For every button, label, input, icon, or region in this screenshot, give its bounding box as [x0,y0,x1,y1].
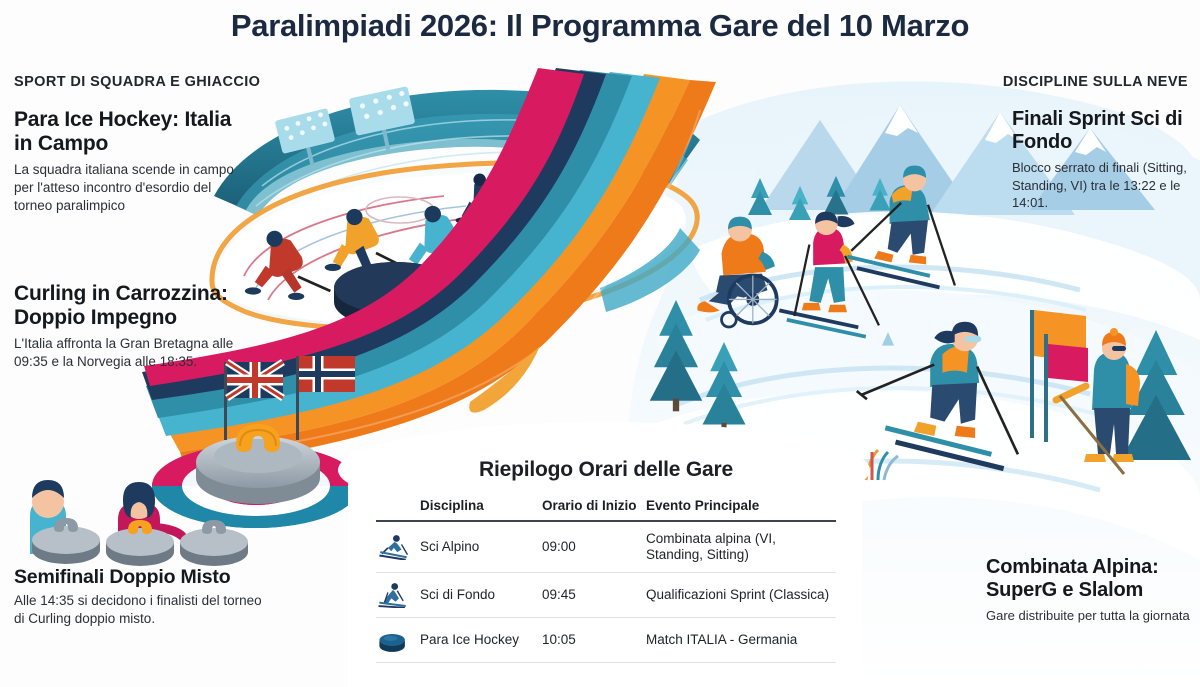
row-orario: 09:00 [542,521,646,572]
block-combinata-alpina: Combinata Alpina: SuperG e Slalom Gare d… [986,556,1200,625]
block-heading: Curling in Carrozzina: Doppio Impegno [14,282,246,329]
block-body: Alle 14:35 si decidono i finalisti del t… [14,592,272,628]
block-body: La squadra italiana scende in campo per … [14,161,242,214]
block-semifinali-doppio-misto: Semifinali Doppio Misto Alle 14:35 si de… [14,566,272,628]
schedule-table-head: Disciplina Orario di Inizio Evento Princ… [376,498,836,521]
row-orario: 10:05 [542,617,646,662]
column-header-orario: Orario di Inizio [542,498,646,521]
table-row: Sci Alpino 09:00 Combinata alpina (VI, S… [376,521,836,572]
schedule-card: Riepilogo Orari delle Gare Disciplina Or… [366,448,846,687]
row-orario: 09:45 [542,572,646,617]
block-heading: Combinata Alpina: SuperG e Slalom [986,556,1200,601]
kicker-right: DISCIPLINE SULLA NEVE [1003,74,1188,90]
row-icon-cell [376,572,420,617]
block-curling-carrozzina: Curling in Carrozzina: Doppio Impegno L'… [14,282,246,371]
row-disciplina: Para Ice Hockey [420,617,542,662]
page-title: Paralimpiadi 2026: Il Programma Gare del… [0,8,1200,44]
table-row: Para Ice Hockey 10:05 Match ITALIA - Ger… [376,617,836,662]
row-evento: Combinata alpina (VI, Standing, Sitting) [646,521,836,572]
block-para-ice-hockey: Para Ice Hockey: Italia in Campo La squa… [14,108,242,215]
row-disciplina: Sci Alpino [420,521,542,572]
row-disciplina: Sci di Fondo [420,572,542,617]
block-heading: Para Ice Hockey: Italia in Campo [14,108,242,155]
block-body: Blocco serrato di finali (Sitting, Stand… [1012,159,1200,211]
row-evento: Match ITALIA - Germania [646,617,836,662]
row-icon-cell [376,521,420,572]
row-evento: Qualificazioni Sprint (Classica) [646,572,836,617]
infographic-root: Paralimpiadi 2026: Il Programma Gare del… [0,0,1200,687]
hockey-puck-icon [376,627,410,653]
table-row: Sci di Fondo 09:45 Qualificazioni Sprint… [376,572,836,617]
block-heading: Semifinali Doppio Misto [14,566,272,588]
block-body: Gare distribuite per tutta la giornata [986,607,1200,624]
cross-country-skier-icon [376,582,410,608]
column-header-evento: Evento Principale [646,498,836,521]
schedule-card-title: Riepilogo Orari delle Gare [366,458,846,482]
block-heading: Finali Sprint Sci di Fondo [1012,108,1200,153]
block-finali-sprint-fondo: Finali Sprint Sci di Fondo Blocco serrat… [1012,108,1200,211]
block-body: L'Italia affronta la Gran Bretagna alle … [14,335,246,371]
kicker-left: SPORT DI SQUADRA E GHIACCIO [14,74,260,90]
column-header-icon [376,498,420,521]
schedule-table-body: Sci Alpino 09:00 Combinata alpina (VI, S… [376,521,836,662]
row-icon-cell [376,617,420,662]
alpine-skier-icon [376,534,410,560]
table-header-row: Disciplina Orario di Inizio Evento Princ… [376,498,836,521]
schedule-table: Disciplina Orario di Inizio Evento Princ… [376,498,836,663]
column-header-disciplina: Disciplina [420,498,542,521]
